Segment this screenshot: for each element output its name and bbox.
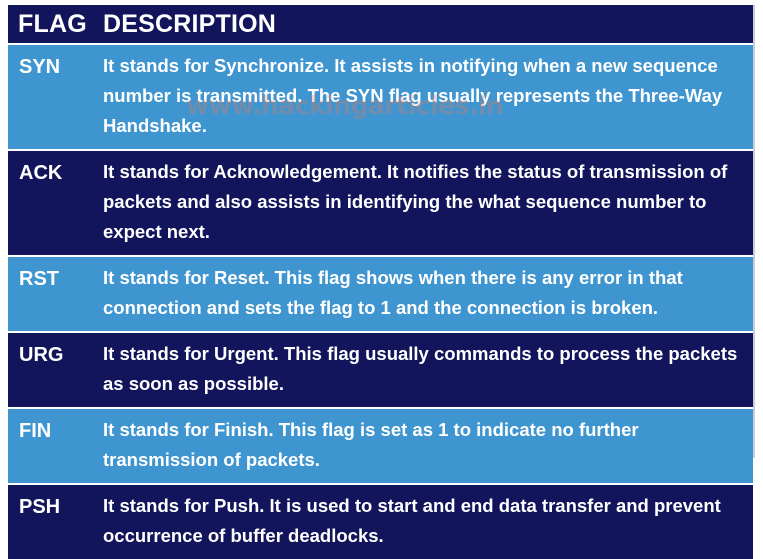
table-row: SYN It stands for Synchronize. It assist… — [8, 44, 753, 150]
cell-flag: RST — [8, 256, 92, 332]
flag-label: FIN — [8, 409, 92, 443]
column-header-description-label: DESCRIPTION — [92, 5, 753, 43]
cell-description: It stands for Reset. This flag shows whe… — [92, 256, 753, 332]
cell-flag: ACK — [8, 150, 92, 256]
description-text: It stands for Finish. This flag is set a… — [92, 409, 753, 483]
description-text: It stands for Synchronize. It assists in… — [92, 45, 753, 149]
table-row: PSH It stands for Push. It is used to st… — [8, 484, 753, 559]
flag-label: RST — [8, 257, 92, 291]
cell-description: It stands for Acknowledgement. It notifi… — [92, 150, 753, 256]
cell-description: It stands for Synchronize. It assists in… — [92, 44, 753, 150]
tcp-flags-table: FLAG DESCRIPTION SYN It stands for Synch… — [8, 5, 753, 559]
table-row: URG It stands for Urgent. This flag usua… — [8, 332, 753, 408]
cell-flag: URG — [8, 332, 92, 408]
description-text: It stands for Push. It is used to start … — [92, 485, 753, 559]
column-header-flag: FLAG — [8, 5, 92, 44]
description-text: It stands for Reset. This flag shows whe… — [92, 257, 753, 331]
description-text: It stands for Urgent. This flag usually … — [92, 333, 753, 407]
table-row: RST It stands for Reset. This flag shows… — [8, 256, 753, 332]
flag-label: SYN — [8, 45, 92, 79]
cell-flag: SYN — [8, 44, 92, 150]
cell-description: It stands for Urgent. This flag usually … — [92, 332, 753, 408]
table-body: SYN It stands for Synchronize. It assist… — [8, 44, 753, 559]
flag-label: ACK — [8, 151, 92, 185]
column-header-flag-label: FLAG — [8, 5, 92, 43]
table-row: ACK It stands for Acknowledgement. It no… — [8, 150, 753, 256]
cell-description: It stands for Push. It is used to start … — [92, 484, 753, 559]
table-header: FLAG DESCRIPTION — [8, 5, 753, 44]
column-header-description: DESCRIPTION — [92, 5, 753, 44]
flag-label: PSH — [8, 485, 92, 519]
cell-description: It stands for Finish. This flag is set a… — [92, 408, 753, 484]
flag-label: URG — [8, 333, 92, 367]
description-text: It stands for Acknowledgement. It notifi… — [92, 151, 753, 255]
tcp-flags-table-container: FLAG DESCRIPTION SYN It stands for Synch… — [8, 5, 755, 458]
cell-flag: PSH — [8, 484, 92, 559]
table-row: FIN It stands for Finish. This flag is s… — [8, 408, 753, 484]
cell-flag: FIN — [8, 408, 92, 484]
table-header-row: FLAG DESCRIPTION — [8, 5, 753, 44]
